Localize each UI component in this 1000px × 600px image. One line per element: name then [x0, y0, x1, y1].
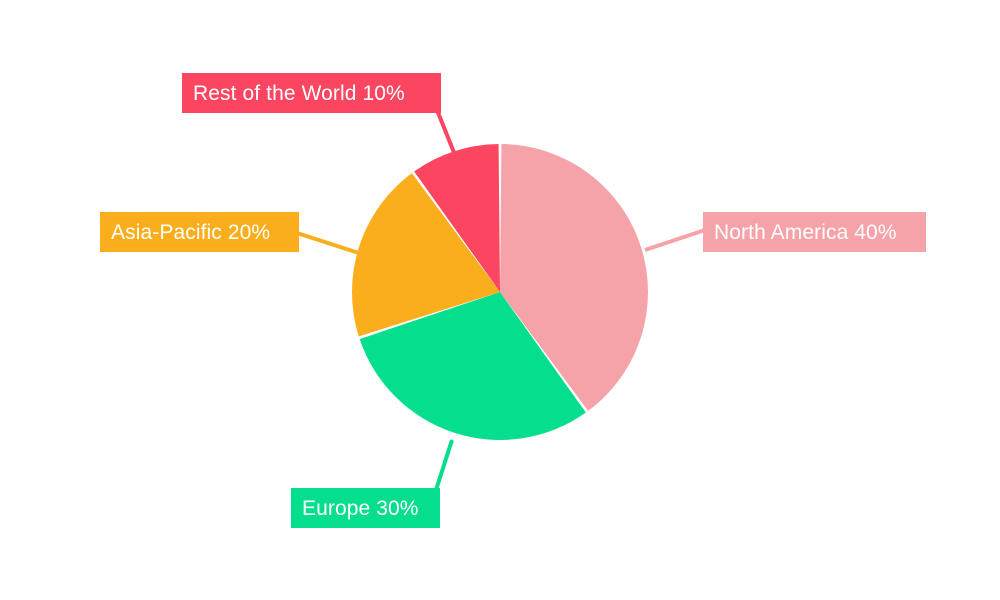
pie-label-north-america[interactable]: North America 40% — [703, 212, 926, 252]
pie-label-text-asia-pacific: Asia-Pacific 20% — [111, 222, 270, 243]
pie-chart: North America 40%Europe 30%Asia-Pacific … — [0, 0, 1000, 600]
pie-label-europe[interactable]: Europe 30% — [291, 488, 440, 528]
pie-chart-canvas — [0, 0, 1000, 600]
pie-label-text-rest-of-the-world: Rest of the World 10% — [193, 83, 405, 104]
leader-line-north-america — [645, 230, 705, 250]
leader-line-europe — [436, 440, 452, 490]
pie-label-asia-pacific[interactable]: Asia-Pacific 20% — [100, 212, 299, 252]
pie-slice-group — [352, 144, 648, 440]
pie-label-rest-of-the-world[interactable]: Rest of the World 10% — [182, 73, 441, 113]
pie-label-text-north-america: North America 40% — [714, 222, 897, 243]
pie-label-text-europe: Europe 30% — [302, 498, 419, 519]
leader-line-asia-pacific — [297, 233, 365, 255]
